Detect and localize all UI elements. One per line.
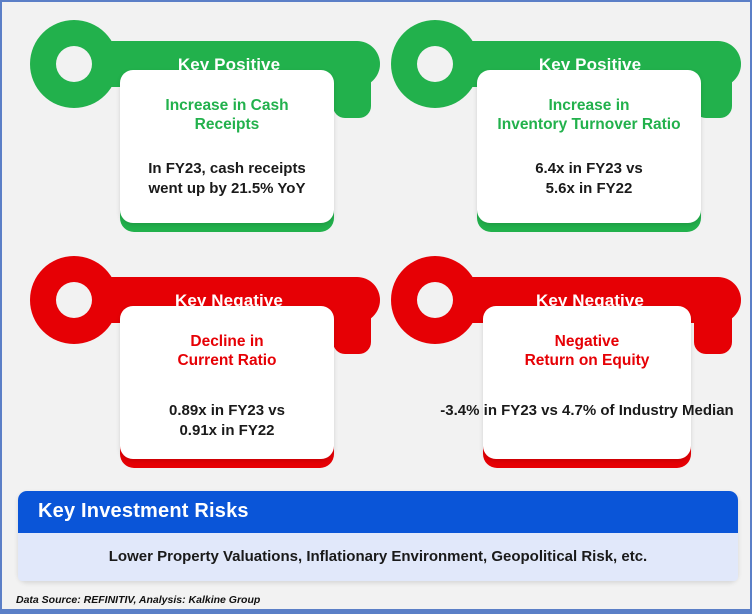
card-body-text: -3.4% in FY23 vs 4.7% of Industry Median <box>440 401 733 421</box>
metric-card[interactable]: Decline in Current Ratio 0.89x in FY23 v… <box>120 306 334 459</box>
card-title: Negative Return on Equity <box>525 332 650 371</box>
key-card-positive-cash-receipts: Key Positive Increase in Cash Receipts I… <box>30 20 380 232</box>
key-investment-risks-panel: Key Investment Risks Lower Property Valu… <box>18 491 738 581</box>
key-card-positive-inventory-turnover: Key Positive Increase in Inventory Turno… <box>391 20 741 232</box>
key-tooth <box>333 314 371 354</box>
metric-card[interactable]: Negative Return on Equity -3.4% in FY23 … <box>483 306 691 459</box>
card-body-text: 0.89x in FY23 vs 0.91x in FY22 <box>169 401 285 442</box>
footer-rule <box>2 609 750 612</box>
risks-heading: Key Investment Risks <box>18 491 738 533</box>
key-card-negative-return-on-equity: Key Negative Negative Return on Equity -… <box>391 256 741 468</box>
metric-card[interactable]: Increase in Inventory Turnover Ratio 6.4… <box>477 70 701 223</box>
key-tooth <box>694 314 732 354</box>
card-title: Increase in Inventory Turnover Ratio <box>497 96 680 135</box>
card-body-text: 6.4x in FY23 vs 5.6x in FY22 <box>535 159 643 200</box>
key-card-negative-current-ratio: Key Negative Decline in Current Ratio 0.… <box>30 256 380 468</box>
card-title: Increase in Cash Receipts <box>165 96 288 135</box>
infographic-canvas: Key Positive Increase in Cash Receipts I… <box>2 2 750 612</box>
card-body-text: In FY23, cash receipts went up by 21.5% … <box>148 159 306 200</box>
card-title: Decline in Current Ratio <box>177 332 276 371</box>
metric-card[interactable]: Increase in Cash Receipts In FY23, cash … <box>120 70 334 223</box>
source-attribution: Data Source: REFINITIV, Analysis: Kalkin… <box>16 594 260 606</box>
key-tooth <box>333 78 371 118</box>
risks-text: Lower Property Valuations, Inflationary … <box>18 533 738 581</box>
